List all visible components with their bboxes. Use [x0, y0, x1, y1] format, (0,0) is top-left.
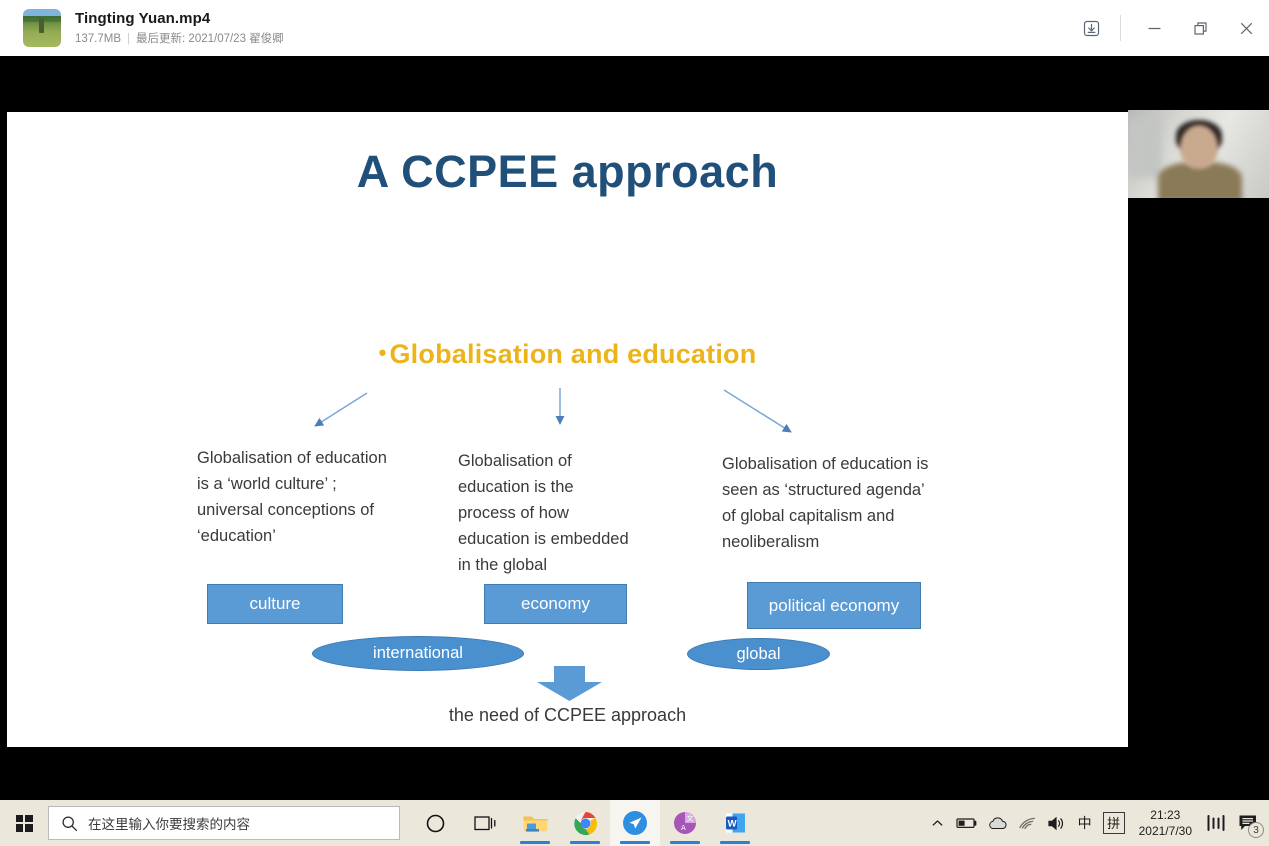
- slide-bullet: •Globalisation and education: [7, 339, 1128, 370]
- video-thumbnail: [23, 9, 61, 47]
- bullet-text: Globalisation and education: [389, 339, 756, 369]
- file-meta-line: 137.7MB | 最后更新: 2021/07/23 翟俊卿: [75, 31, 284, 47]
- box-culture: culture: [207, 584, 343, 624]
- cortana-icon[interactable]: [410, 800, 460, 846]
- word-icon[interactable]: W: [710, 800, 760, 846]
- last-updated: 最后更新: 2021/07/23 翟俊卿: [136, 31, 284, 47]
- svg-text:W: W: [727, 819, 736, 830]
- ellipse-international: international: [312, 636, 524, 671]
- search-icon: [61, 815, 78, 832]
- box-political-economy: political economy: [747, 582, 921, 629]
- down-arrow-icon: [532, 666, 607, 702]
- slide-conclusion: the need of CCPEE approach: [7, 705, 1128, 726]
- ellipse-global: global: [687, 638, 830, 670]
- windows-logo-icon: [16, 815, 33, 832]
- slide-title: A CCPEE approach: [7, 146, 1128, 198]
- ime-language-indicator[interactable]: 中: [1072, 800, 1098, 846]
- file-size: 137.7MB: [75, 31, 121, 47]
- clock-date: 2021/7/30: [1139, 823, 1192, 839]
- meta-divider: |: [127, 31, 130, 47]
- presenter-webcam-overlay: [1128, 110, 1269, 198]
- box-economy: economy: [484, 584, 627, 624]
- translate-icon[interactable]: 文 A: [660, 800, 710, 846]
- svg-text:A: A: [681, 824, 686, 832]
- bullet-dot-icon: •: [379, 340, 387, 365]
- chrome-icon[interactable]: [560, 800, 610, 846]
- minimize-button[interactable]: [1131, 0, 1177, 56]
- onedrive-icon[interactable]: [983, 800, 1013, 846]
- start-button[interactable]: [0, 800, 48, 846]
- file-explorer-icon[interactable]: [510, 800, 560, 846]
- window-controls: [1068, 0, 1269, 56]
- ime-pinyin-box: 拼: [1103, 812, 1125, 834]
- diagram-arrows: [7, 112, 1128, 747]
- video-player-surface[interactable]: A CCPEE approach •Globalisation and educ…: [0, 56, 1269, 800]
- column-text-left: Globalisation of education is a ‘world c…: [197, 445, 402, 549]
- taskbar-search-input[interactable]: 在这里输入你要搜索的内容: [48, 806, 400, 840]
- file-name: Tingting Yuan.mp4: [75, 9, 284, 29]
- ime-pinyin-indicator[interactable]: 拼: [1098, 800, 1130, 846]
- restore-button[interactable]: [1177, 0, 1223, 56]
- monitor-graph-icon[interactable]: [1201, 800, 1231, 846]
- column-text-middle: Globalisation of education is the proces…: [458, 448, 630, 578]
- wifi-icon[interactable]: [1013, 800, 1042, 846]
- tray-overflow-icon[interactable]: [925, 800, 951, 846]
- close-button[interactable]: [1223, 0, 1269, 56]
- task-view-icon[interactable]: [460, 800, 510, 846]
- taskbar-apps: 文 A W: [410, 800, 760, 846]
- notification-center-button[interactable]: 3: [1231, 800, 1265, 846]
- download-button[interactable]: [1068, 0, 1114, 56]
- search-placeholder-text: 在这里输入你要搜索的内容: [88, 813, 250, 833]
- windows-taskbar: 在这里输入你要搜索的内容: [0, 800, 1269, 846]
- taskbar-clock[interactable]: 21:23 2021/7/30: [1130, 800, 1201, 846]
- titlebar-separator: [1120, 15, 1121, 41]
- volume-icon[interactable]: [1042, 800, 1072, 846]
- svg-text:文: 文: [687, 814, 694, 823]
- window-titlebar: Tingting Yuan.mp4 137.7MB | 最后更新: 2021/0…: [0, 0, 1269, 56]
- presentation-slide: A CCPEE approach •Globalisation and educ…: [7, 112, 1128, 747]
- column-text-right: Globalisation of education is seen as ‘s…: [722, 451, 940, 555]
- file-info: Tingting Yuan.mp4 137.7MB | 最后更新: 2021/0…: [75, 9, 284, 47]
- video-player-icon[interactable]: [610, 800, 660, 846]
- clock-time: 21:23: [1150, 807, 1180, 823]
- notification-badge: 3: [1248, 822, 1264, 838]
- system-tray: 中 拼 21:23 2021/7/30 3: [925, 800, 1269, 846]
- battery-icon[interactable]: [951, 800, 983, 846]
